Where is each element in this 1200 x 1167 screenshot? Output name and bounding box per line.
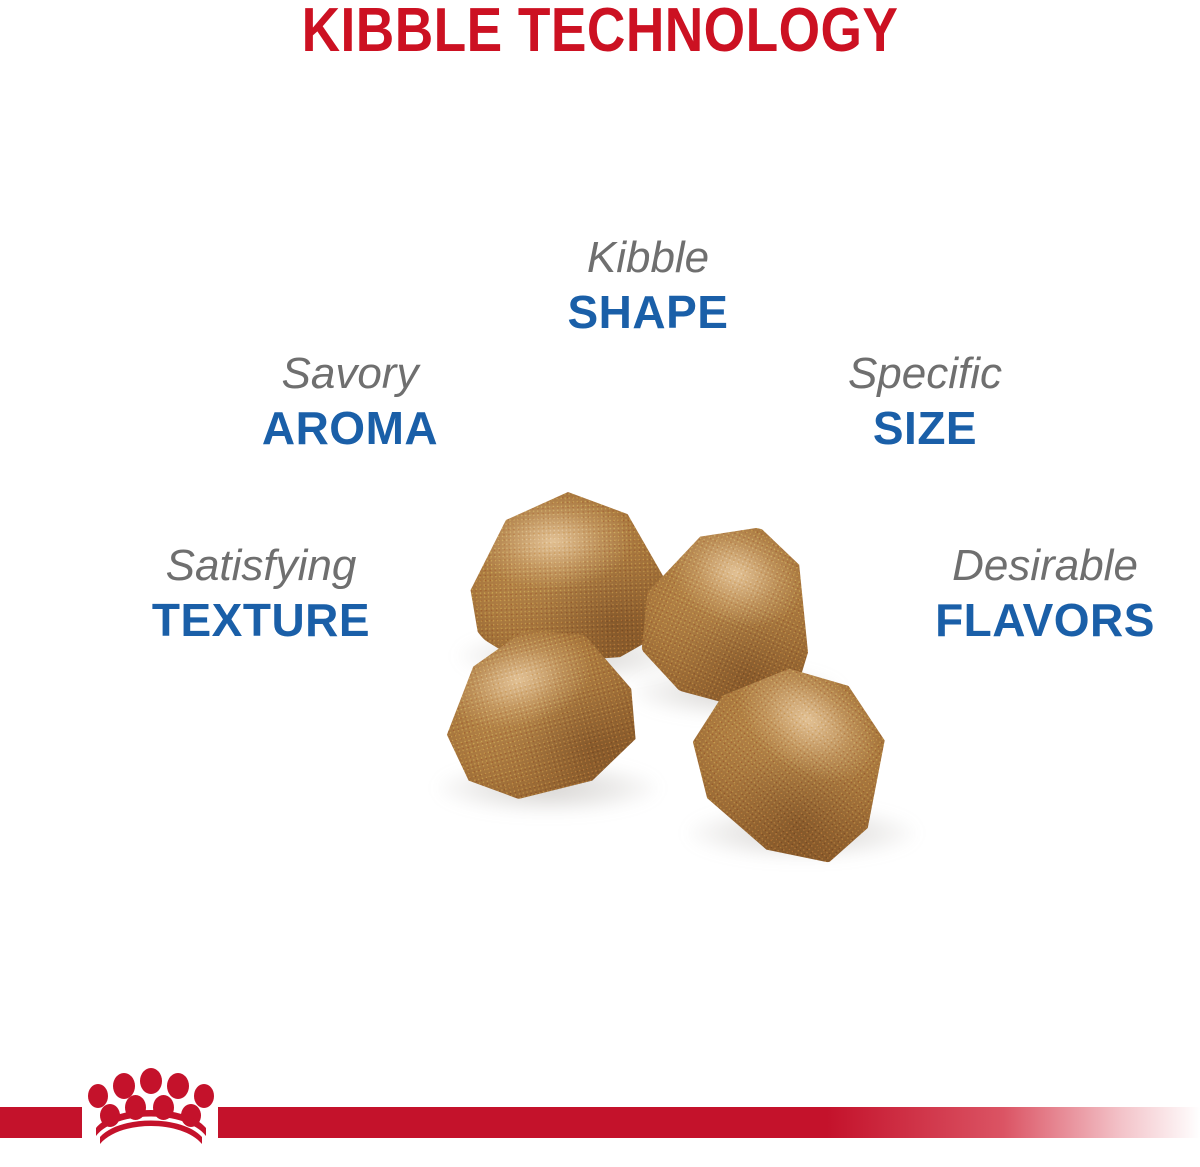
brand-bar-left [0, 1107, 82, 1138]
page-title: KIBBLE TECHNOLOGY [84, 0, 1116, 63]
feature-aroma-qualifier: Savory [195, 352, 505, 396]
royal-canin-crown-icon [78, 1066, 224, 1144]
feature-size-qualifier: Specific [775, 352, 1075, 396]
feature-shape-title: SHAPE [498, 289, 798, 335]
feature-aroma-title: AROMA [195, 405, 505, 451]
crown-arc-icon [94, 1106, 208, 1144]
feature-label-size: Specific SIZE [775, 352, 1075, 451]
kibble-technology-infographic: KIBBLE TECHNOLOGY Kibble SHAPE Savory AR… [0, 0, 1200, 1167]
feature-label-aroma: Savory AROMA [195, 352, 505, 451]
feature-shape-qualifier: Kibble [498, 236, 798, 280]
feature-texture-qualifier: Satisfying [96, 544, 426, 588]
feature-label-shape: Kibble SHAPE [498, 236, 798, 335]
brand-bar-right [218, 1107, 1200, 1138]
feature-texture-title: TEXTURE [96, 597, 426, 643]
feature-label-texture: Satisfying TEXTURE [96, 544, 426, 643]
brand-footer-band [0, 1107, 1200, 1138]
feature-size-title: SIZE [775, 405, 1075, 451]
kibble-photo [420, 470, 980, 890]
